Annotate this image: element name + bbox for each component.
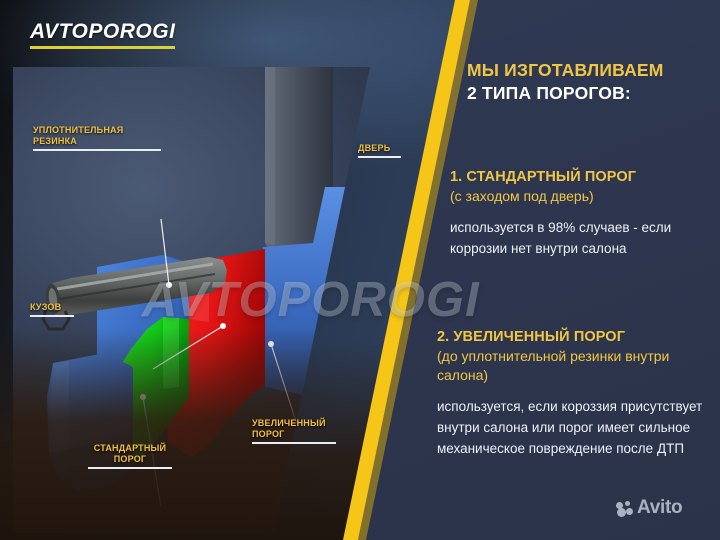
label-weather-seal: УПЛОТНИТЕЛЬНАЯ РЕЗИНКА [33, 125, 161, 151]
headline-line-2: 2 ТИПА ПОРОГОВ: [467, 82, 717, 105]
headline: МЫ ИЗГОТАВЛИВАЕМ 2 ТИПА ПОРОГОВ: [467, 59, 717, 105]
label-standard-sill: СТАНДАРТНЫЙ ПОРОГ [88, 443, 172, 469]
info-panel: МЫ ИЗГОТАВЛИВАЕМ 2 ТИПА ПОРОГОВ: 1. СТАН… [404, 0, 720, 540]
label-standard-sill-line2: ПОРОГ [88, 454, 172, 465]
label-car-body-text: КУЗОВ [30, 302, 74, 313]
avito-logo-icon [616, 501, 633, 516]
section-1-body: используется в 98% случаев - если корроз… [450, 217, 720, 259]
headline-line-1: МЫ ИЗГОТАВЛИВАЕМ [467, 59, 717, 82]
label-weather-seal-line1: УПЛОТНИТЕЛЬНАЯ [33, 125, 161, 136]
section-2-subtitle: (до уплотнительной резинки внутри салона… [437, 347, 720, 385]
label-door-text: ДВЕРЬ [358, 143, 401, 154]
label-standard-sill-line1: СТАНДАРТНЫЙ [88, 443, 172, 454]
label-door: ДВЕРЬ [358, 143, 401, 158]
section-enlarged-sill: 2. УВЕЛИЧЕННЫЙ ПОРОГ (до уплотнительной … [437, 328, 720, 459]
label-enlarged-sill-line1: УВЕЛИЧЕННЫЙ [252, 418, 336, 429]
label-enlarged-sill-line2: ПОРОГ [252, 429, 336, 440]
label-underline [88, 467, 172, 469]
avito-watermark: Avito [616, 497, 682, 519]
label-car-body: КУЗОВ [30, 302, 74, 317]
avito-wordmark: Avito [637, 497, 682, 519]
label-underline [33, 149, 161, 151]
section-1-subtitle: (с заходом под дверь) [450, 187, 720, 206]
brand-logo: AVTOPOROGI [30, 20, 175, 49]
label-underline [358, 156, 401, 158]
label-weather-seal-line2: РЕЗИНКА [33, 136, 161, 147]
logo-text: AVTOPOROGI [30, 20, 175, 44]
section-2-body: используется, если короззия присутствует… [437, 396, 720, 459]
label-enlarged-sill: УВЕЛИЧЕННЫЙ ПОРОГ [252, 418, 336, 444]
section-2-title: 2. УВЕЛИЧЕННЫЙ ПОРОГ [437, 328, 720, 347]
poster-canvas: AVTOPOROGI [0, 0, 720, 540]
label-underline [30, 315, 74, 317]
section-1-title: 1. СТАНДАРТНЫЙ ПОРОГ [450, 168, 720, 187]
label-underline [252, 442, 336, 444]
logo-underline [30, 46, 175, 49]
section-standard-sill: 1. СТАНДАРТНЫЙ ПОРОГ (с заходом под двер… [450, 168, 720, 259]
